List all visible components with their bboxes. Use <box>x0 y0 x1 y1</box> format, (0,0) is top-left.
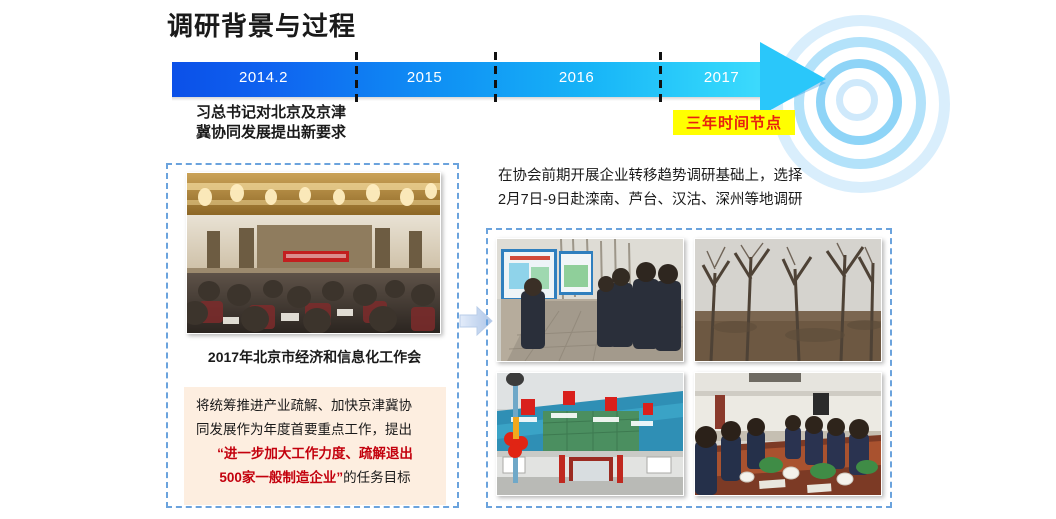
callout-line-3: “进一步加大工作力度、疏解退出 <box>196 442 434 466</box>
page-title: 调研背景与过程 <box>167 6 356 43</box>
timeline-year-2014: 2014.2 <box>172 69 355 86</box>
slide-root: 调研背景与过程 2014.2 2015 2016 2017 习总书记对北京及京津… <box>0 0 1056 519</box>
callout-line-1: 将统筹推进产业疏解、加快京津冀协 <box>196 394 434 418</box>
photo-meeting-room <box>694 372 882 496</box>
timeline-year-2016: 2016 <box>494 69 659 86</box>
photo-survey-board <box>496 238 684 362</box>
callout-line-4: 500家一般制造企业”的任务目标 <box>196 466 434 490</box>
callout-line-4-black: 的任务目标 <box>343 470 411 485</box>
left-panel: 2017年北京市经济和信息化工作会 将统筹推进产业疏解、加快京津冀协 同发展作为… <box>166 163 459 508</box>
callout-line-2: 同发展作为年度首要重点工作，提出 <box>196 418 434 442</box>
right-intro-line1: 在协会前期开展企业转移趋势调研基础上，选择 <box>498 164 898 188</box>
callout-box: 将统筹推进产业疏解、加快京津冀协 同发展作为年度首要重点工作，提出 “进一步加大… <box>184 387 446 505</box>
right-intro-line2: 2月7日-9日赴滦南、芦台、汉沽、深州等地调研 <box>498 188 898 212</box>
status-badge-three-year: 三年时间节点 <box>673 110 795 135</box>
timeline-note-line2: 冀协同发展提出新要求 <box>196 123 346 143</box>
timeline-note-line1: 习总书记对北京及京津 <box>196 103 346 123</box>
right-photo-panel <box>486 228 892 508</box>
callout-line-4-red: 500家一般制造企业” <box>219 470 343 485</box>
photo-tree-field <box>694 238 882 362</box>
photo-dairy-factory <box>496 372 684 496</box>
timeline-note: 习总书记对北京及京津 冀协同发展提出新要求 <box>196 103 346 143</box>
photo-conference-hall <box>186 172 441 334</box>
timeline-year-2017: 2017 <box>659 69 784 86</box>
photo-caption-conference: 2017年北京市经济和信息化工作会 <box>168 347 461 367</box>
right-intro-text: 在协会前期开展企业转移趋势调研基础上，选择 2月7日-9日赴滦南、芦台、汉沽、深… <box>498 164 898 212</box>
timeline-year-2015: 2015 <box>355 69 494 86</box>
timeline-bar-shadow <box>172 97 784 101</box>
